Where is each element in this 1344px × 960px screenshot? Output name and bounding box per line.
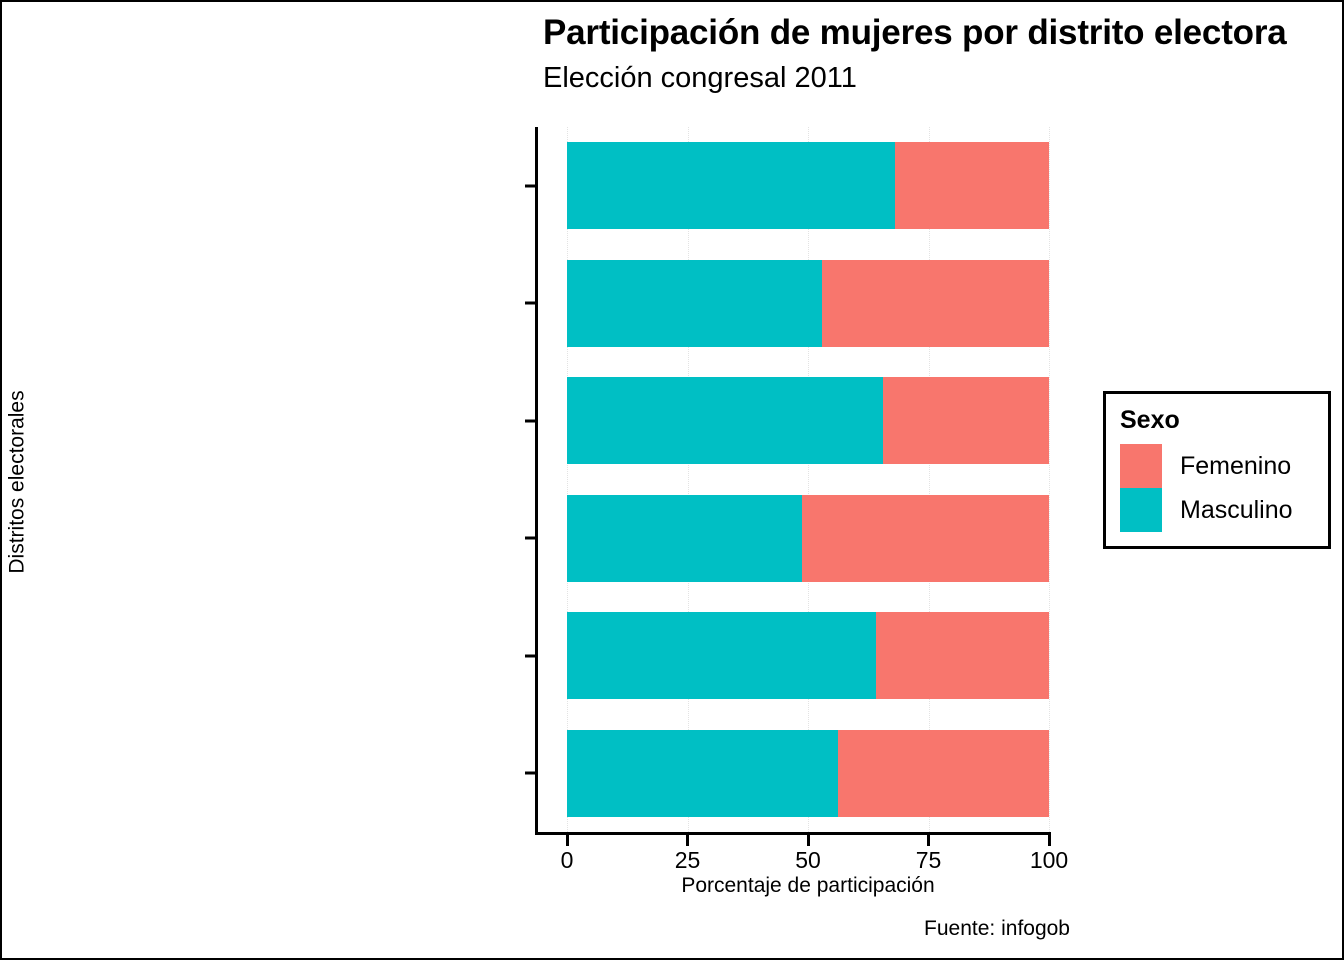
gridline-x: [808, 127, 810, 832]
bar-segment-masculino[interactable]: [567, 260, 822, 347]
bar-segment-femenino[interactable]: [838, 730, 1049, 817]
bar-row[interactable]: [567, 260, 1049, 347]
x-tick-label: 75: [916, 847, 942, 874]
bar-segment-femenino[interactable]: [895, 142, 1049, 229]
x-tick-label: 25: [675, 847, 701, 874]
y-axis-title: Distritos electorales: [2, 2, 34, 960]
x-axis-line: [535, 832, 1051, 835]
plot-panel: [567, 127, 1049, 832]
legend-items: FemeninoMasculino: [1120, 444, 1314, 532]
y-tick-mark: [525, 772, 536, 775]
legend-item-label: Femenino: [1180, 452, 1291, 480]
legend-key-swatch: [1120, 444, 1162, 488]
y-tick-mark: [525, 654, 536, 657]
bar-segment-femenino[interactable]: [822, 260, 1049, 347]
y-tick-mark: [525, 302, 536, 305]
bar-row[interactable]: [567, 495, 1049, 582]
legend-item[interactable]: Masculino: [1120, 488, 1314, 532]
chart-subtitle: Elección congresal 2011: [543, 60, 857, 96]
y-tick-mark: [525, 184, 536, 187]
chart-caption: Fuente: infogob: [924, 917, 1070, 941]
legend-key-swatch: [1120, 488, 1162, 532]
x-tick-mark: [1048, 835, 1051, 846]
x-axis-title: Porcentaje de participación: [567, 874, 1049, 898]
x-tick-label: 0: [561, 847, 574, 874]
gridline-x: [567, 127, 569, 832]
gridline-x: [929, 127, 931, 832]
chart-page: Participación de mujeres por distrito el…: [0, 0, 1344, 960]
bar-segment-masculino[interactable]: [567, 730, 838, 817]
y-tick-mark: [525, 537, 536, 540]
x-tick-label: 100: [1030, 847, 1068, 874]
bar-segment-femenino[interactable]: [883, 377, 1049, 464]
y-tick-mark: [525, 419, 536, 422]
y-axis-title-text: Distritos electorales: [6, 390, 30, 573]
legend-title: Sexo: [1120, 406, 1314, 434]
x-tick-mark: [807, 835, 810, 846]
chart-title: Participación de mujeres por distrito el…: [543, 12, 1287, 54]
x-tick-mark: [566, 835, 569, 846]
x-tick-mark: [686, 835, 689, 846]
x-tick-label: 50: [795, 847, 821, 874]
legend-item-label: Masculino: [1180, 496, 1293, 524]
bar-row[interactable]: [567, 612, 1049, 699]
bar-segment-masculino[interactable]: [567, 142, 895, 229]
bar-row[interactable]: [567, 730, 1049, 817]
bar-row[interactable]: [567, 377, 1049, 464]
legend-item[interactable]: Femenino: [1120, 444, 1314, 488]
bar-segment-femenino[interactable]: [802, 495, 1049, 582]
bar-segment-femenino[interactable]: [876, 612, 1049, 699]
bar-segment-masculino[interactable]: [567, 612, 876, 699]
gridline-x: [1049, 127, 1051, 832]
gridline-x: [688, 127, 690, 832]
y-axis-line: [535, 127, 538, 832]
legend: Sexo FemeninoMasculino: [1103, 391, 1331, 549]
bar-row[interactable]: [567, 142, 1049, 229]
x-tick-mark: [927, 835, 930, 846]
bar-segment-masculino[interactable]: [567, 377, 883, 464]
bar-segment-masculino[interactable]: [567, 495, 802, 582]
